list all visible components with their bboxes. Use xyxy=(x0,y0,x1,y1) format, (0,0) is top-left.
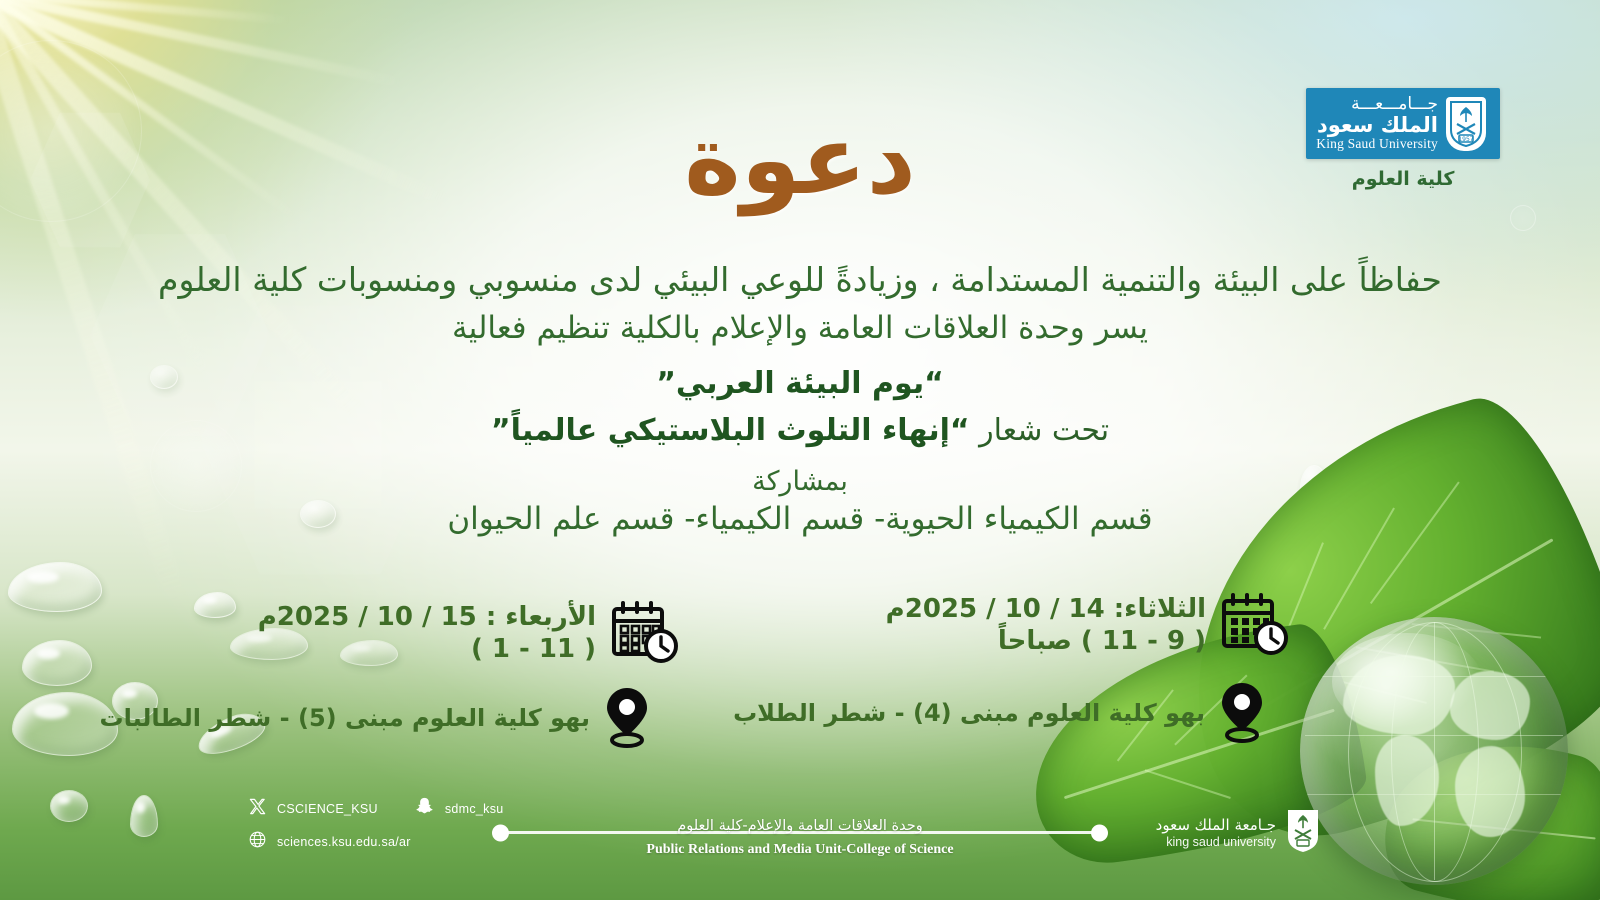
footer-ksu-arabic: جـامعة الملك سعود xyxy=(1156,816,1276,835)
session-time-line: ( 11 - 1 ) xyxy=(471,634,596,664)
participation-label: بمشاركة xyxy=(0,466,1600,497)
globe-icon[interactable] xyxy=(248,830,267,853)
session-date-female: الأربعاء : 15 / 10 / 2025م ( 11 - 1 ) xyxy=(258,600,680,668)
session-place-male: بهو كلية العلوم مبنى (4) - شطر الطلاب xyxy=(733,681,1265,747)
x-twitter-icon[interactable] xyxy=(248,797,267,820)
social-row-website: sciences.ksu.edu.sa/ar xyxy=(248,830,504,853)
footer-ksu-text: جـامعة الملك سعود king saud university xyxy=(1156,816,1276,850)
footer-unit-english: Public Relations and Media Unit-College … xyxy=(490,842,1110,858)
session-date-text: الثلاثاء: 14 / 10 / 2025م ( 9 - 11 ) صبا… xyxy=(886,594,1206,657)
website-url[interactable]: sciences.ksu.edu.sa/ar xyxy=(277,835,411,849)
calendar-clock-icon xyxy=(1220,592,1290,660)
calendar-clock-icon xyxy=(610,600,680,668)
footer: CSCIENCE_KSU sdmc_ksu xyxy=(0,782,1600,900)
event-slogan-line: تحت شعار “إنهاء التلوث البلاستيكي عالميا… xyxy=(0,413,1600,448)
poster-canvas: 1957 جـــامـــعـــة الملك سعود King Saud… xyxy=(0,0,1600,900)
page-title: دعوة xyxy=(0,104,1600,216)
footer-unit-arabic: وحدة العلاقات العامة والإعلام-كلية العلو… xyxy=(490,818,1110,834)
body-copy: حفاظاً على البيئة والتنمية المستدامة ، و… xyxy=(0,258,1600,537)
snapchat-handle[interactable]: sdmc_ksu xyxy=(445,802,504,816)
social-row-handles: CSCIENCE_KSU sdmc_ksu xyxy=(248,796,504,821)
ksu-emblem-icon xyxy=(1286,808,1320,858)
event-slogan: “إنهاء التلوث البلاستيكي عالمياً” xyxy=(491,413,970,448)
footer-unit-block: وحدة العلاقات العامة والإعلام-كلية العلو… xyxy=(490,818,1110,858)
map-pin-icon xyxy=(604,686,650,752)
session-date-male: الثلاثاء: 14 / 10 / 2025م ( 9 - 11 ) صبا… xyxy=(886,592,1290,660)
session-place-text: بهو كلية العلوم مبنى (5) - شطر الطالبات xyxy=(99,704,590,733)
snapchat-icon[interactable] xyxy=(414,796,435,821)
sub-paragraph: يسر وحدة العلاقات العامة والإعلام بالكلي… xyxy=(0,306,1600,351)
slogan-prefix: تحت شعار xyxy=(970,413,1109,448)
session-date-line: الثلاثاء: 14 / 10 / 2025م xyxy=(886,594,1206,624)
participating-departments: قسم الكيمياء الحيوية- قسم الكيمياء- قسم … xyxy=(0,501,1600,537)
map-pin-icon xyxy=(1219,681,1265,747)
social-links: CSCIENCE_KSU sdmc_ksu xyxy=(248,796,504,862)
session-date-line: الأربعاء : 15 / 10 / 2025م xyxy=(258,602,596,632)
session-time-line: ( 9 - 11 ) صباحاً xyxy=(998,626,1206,656)
x-handle[interactable]: CSCIENCE_KSU xyxy=(277,802,378,816)
session-place-text: بهو كلية العلوم مبنى (4) - شطر الطلاب xyxy=(733,699,1205,728)
footer-ksu-logo: جـامعة الملك سعود king saud university xyxy=(1156,808,1320,858)
session-place-female: بهو كلية العلوم مبنى (5) - شطر الطالبات xyxy=(99,686,650,752)
event-name: “يوم البيئة العربي” xyxy=(0,366,1600,401)
footer-ksu-english: king saud university xyxy=(1156,835,1276,851)
lead-paragraph: حفاظاً على البيئة والتنمية المستدامة ، و… xyxy=(0,258,1600,302)
session-date-text: الأربعاء : 15 / 10 / 2025م ( 11 - 1 ) xyxy=(258,602,596,665)
